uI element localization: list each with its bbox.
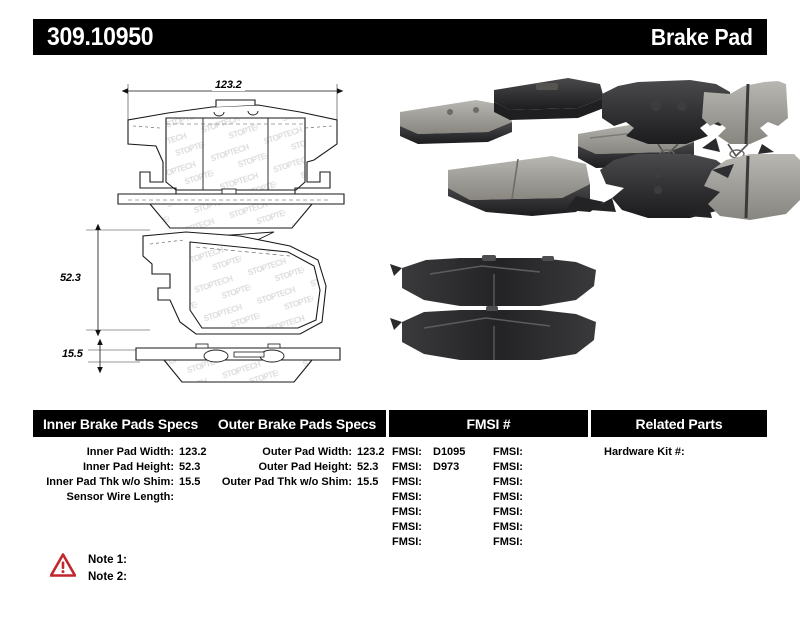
fmsi-value xyxy=(428,490,433,505)
spec-row: Inner Pad Thk w/o Shim: 15.5 xyxy=(33,475,208,490)
column-header-fmsi: FMSI # xyxy=(386,410,588,437)
spec-value: 52.3 xyxy=(174,460,208,475)
notes-section: Note 1: Note 2: xyxy=(50,552,127,586)
fmsi-column-right: FMSI: FMSI: FMSI: FMSI: FMSI: xyxy=(487,445,588,550)
fmsi-row: FMSI: xyxy=(493,460,588,475)
spec-label: Outer Pad Width: xyxy=(262,445,352,460)
fmsi-label: FMSI: xyxy=(392,505,428,520)
fmsi-row: FMSI: xyxy=(493,445,588,460)
fmsi-label: FMSI: xyxy=(392,460,428,475)
fmsi-label: FMSI: xyxy=(493,490,529,505)
fmsi-row: FMSI: xyxy=(392,520,487,535)
spec-row: Inner Pad Width: 123.2 xyxy=(33,445,208,460)
spec-value: 52.3 xyxy=(352,460,386,475)
fmsi-value xyxy=(529,535,534,550)
pad-bottom-view xyxy=(86,230,326,334)
fmsi-row: FMSI: D1095 xyxy=(392,445,487,460)
fmsi-label: FMSI: xyxy=(493,475,529,490)
fmsi-value xyxy=(529,520,534,535)
fmsi-label: FMSI: xyxy=(392,535,428,550)
fmsi-row: FMSI: xyxy=(493,505,588,520)
note-line: Note 2: xyxy=(88,569,127,586)
related-parts-list: Hardware Kit #: xyxy=(588,445,767,550)
spec-row: Outer Pad Width: 123.2 xyxy=(208,445,386,460)
fmsi-row: FMSI: xyxy=(392,535,487,550)
dimension-width-label: 123.2 xyxy=(212,79,245,91)
warning-triangle-icon xyxy=(50,553,76,577)
spec-value: 123.2 xyxy=(174,445,208,460)
fmsi-value xyxy=(428,520,433,535)
fmsi-value xyxy=(428,475,433,490)
spec-value: 15.5 xyxy=(352,475,386,490)
dimension-thickness-label: 15.5 xyxy=(59,348,86,360)
specs-table-body: Inner Pad Width: 123.2 Inner Pad Height:… xyxy=(33,437,767,550)
specs-table: Inner Brake Pads Specs Outer Brake Pads … xyxy=(33,410,767,550)
fmsi-label: FMSI: xyxy=(493,520,529,535)
fmsi-row: FMSI: xyxy=(493,520,588,535)
specs-table-header: Inner Brake Pads Specs Outer Brake Pads … xyxy=(33,410,767,437)
pad-top-view xyxy=(128,84,337,200)
spec-label: Outer Pad Thk w/o Shim: xyxy=(222,475,352,490)
fmsi-list: FMSI: D1095 FMSI: D973 FMSI: FMSI: FMSI: xyxy=(386,445,588,550)
fmsi-row: FMSI: xyxy=(392,505,487,520)
fmsi-label: FMSI: xyxy=(493,535,529,550)
product-type: Brake Pad xyxy=(651,24,753,51)
fmsi-value xyxy=(529,460,534,475)
spec-row: Inner Pad Height: 52.3 xyxy=(33,460,208,475)
technical-drawings: STOPTECH STOPTECH xyxy=(0,60,400,400)
fmsi-row: FMSI: xyxy=(493,490,588,505)
column-header-inner-specs: Inner Brake Pads Specs xyxy=(33,410,208,437)
fmsi-label: FMSI: xyxy=(392,520,428,535)
spec-row: Sensor Wire Length: xyxy=(33,490,208,505)
spec-label: Inner Pad Height: xyxy=(83,460,174,475)
part-number: 309.10950 xyxy=(47,23,153,52)
fmsi-label: FMSI: xyxy=(392,445,428,460)
fmsi-value: D1095 xyxy=(428,445,465,460)
photo-group-pair xyxy=(390,255,596,360)
fmsi-value xyxy=(529,505,534,520)
spec-label: Sensor Wire Length: xyxy=(67,490,174,505)
fmsi-value: D973 xyxy=(428,460,459,475)
product-photos xyxy=(390,60,800,400)
fmsi-row: FMSI: D973 xyxy=(392,460,487,475)
notes-lines: Note 1: Note 2: xyxy=(88,552,127,586)
fmsi-value xyxy=(529,445,534,460)
note-line: Note 1: xyxy=(88,552,127,569)
spec-row: Outer Pad Thk w/o Shim: 15.5 xyxy=(208,475,386,490)
fmsi-value xyxy=(529,475,534,490)
fmsi-value xyxy=(428,535,433,550)
fmsi-label: FMSI: xyxy=(392,490,428,505)
fmsi-label: FMSI: xyxy=(493,460,529,475)
inner-specs-list: Inner Pad Width: 123.2 Inner Pad Height:… xyxy=(33,445,208,550)
spec-label: Inner Pad Thk w/o Shim: xyxy=(46,475,174,490)
outer-specs-list: Outer Pad Width: 123.2 Outer Pad Height:… xyxy=(208,445,386,550)
spec-label: Inner Pad Width: xyxy=(87,445,174,460)
fmsi-value xyxy=(529,490,534,505)
spec-row: Outer Pad Height: 52.3 xyxy=(208,460,386,475)
fmsi-label: FMSI: xyxy=(493,505,529,520)
fmsi-label: FMSI: xyxy=(392,475,428,490)
fmsi-row: FMSI: xyxy=(392,475,487,490)
fmsi-value xyxy=(428,505,433,520)
column-header-related: Related Parts xyxy=(588,410,767,437)
related-part-row: Hardware Kit #: xyxy=(588,445,767,460)
dimension-height-label: 52.3 xyxy=(57,272,84,284)
spec-value: 15.5 xyxy=(174,475,208,490)
product-photo-svg xyxy=(390,60,800,400)
pad-thickness-view xyxy=(88,344,340,382)
page-header: 309.10950 Brake Pad xyxy=(33,19,767,55)
fmsi-row: FMSI: xyxy=(493,535,588,550)
fmsi-column-left: FMSI: D1095 FMSI: D973 FMSI: FMSI: FMSI: xyxy=(386,445,487,550)
spec-label: Outer Pad Height: xyxy=(258,460,352,475)
fmsi-row: FMSI: xyxy=(493,475,588,490)
spec-value xyxy=(174,490,208,505)
fmsi-row: FMSI: xyxy=(392,490,487,505)
spec-value: 123.2 xyxy=(352,445,386,460)
fmsi-label: FMSI: xyxy=(493,445,529,460)
column-header-outer-specs: Outer Brake Pads Specs xyxy=(208,410,386,437)
